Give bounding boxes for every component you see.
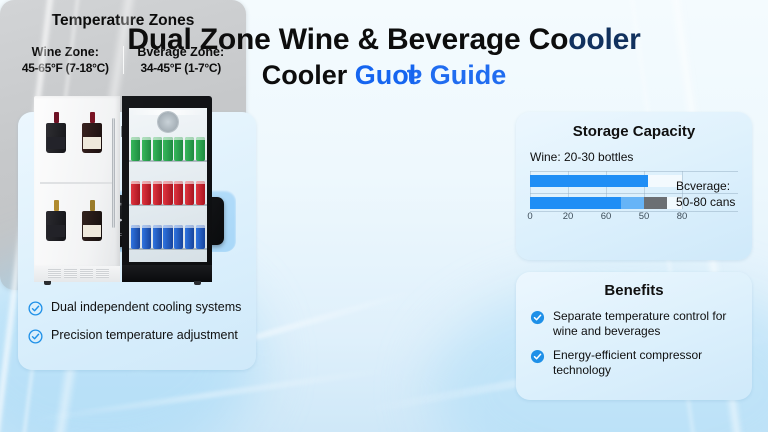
can-row xyxy=(131,135,205,161)
list-item: Energy-efficient compressor technology xyxy=(530,348,738,377)
storage-capacity-card: Storage Capacity Wine: 20-30 bottles 020… xyxy=(516,112,752,260)
check-circle-icon xyxy=(530,349,545,364)
benefits-heading: Benefits xyxy=(516,282,752,299)
wine-bottle xyxy=(46,200,66,241)
glass-door xyxy=(129,108,207,262)
title-line-2-dark: Cooler xyxy=(262,60,355,90)
title-line-2: Cooler Guolɐ Guide xyxy=(0,58,768,92)
bar-segment xyxy=(530,175,648,187)
bar-segment xyxy=(530,197,621,209)
list-item-label: Dual independent cooling systems xyxy=(51,300,241,315)
chart-tick-label: 50 xyxy=(639,211,650,222)
wine-compartment xyxy=(34,96,120,268)
infographic-canvas: Dual Zone Wine & Beverage Coooler Cooler… xyxy=(0,0,768,432)
benefits-card: Benefits Separate temperature control fo… xyxy=(516,272,752,400)
chart-tick-label: 20 xyxy=(563,211,574,222)
door-handle xyxy=(112,118,115,228)
title-line-1-tail: ooler xyxy=(568,23,640,56)
title-line-1-main: Dual Zone Wine & Beverage Co xyxy=(127,23,568,56)
check-circle-icon xyxy=(28,301,43,316)
storage-capacity-heading: Storage Capacity xyxy=(516,123,752,140)
list-item-label: Separate temperature control for wine an… xyxy=(553,309,738,338)
cooler-base xyxy=(34,264,212,282)
wine-capacity-label: Wine: 20-30 bottles xyxy=(530,150,738,165)
title-line-2-ghost: ɐ Guide xyxy=(407,60,506,90)
chart-tick-label: 80 xyxy=(677,211,688,222)
dual-zone-cooler-image xyxy=(34,96,212,282)
beverage-capacity-label: Bcverage: 50-80 cans xyxy=(676,178,754,210)
list-item-label: Precision temperature adjustment xyxy=(51,328,238,343)
benefits-bullet-list: Separate temperature control for wine an… xyxy=(530,309,738,377)
chart-tick-labels: 020605080 xyxy=(530,211,738,225)
beverage-capacity-label-line1: Bcverage: xyxy=(676,178,754,194)
features-bullet-list: Dual independent cooling systems Precisi… xyxy=(28,300,248,356)
list-item-label: Energy-efficient compressor technology xyxy=(553,348,738,377)
fan-icon xyxy=(158,112,178,132)
list-item: Separate temperature control for wine an… xyxy=(530,309,738,338)
chart-tick-label: 60 xyxy=(601,211,612,222)
beverage-capacity-label-line2: 50-80 cans xyxy=(676,194,754,210)
wine-bottle xyxy=(82,200,102,241)
capacity-chart-wrap: Wine: 20-30 bottles 020605080 Bcverage: … xyxy=(516,150,752,223)
list-item: Dual independent cooling systems xyxy=(28,300,248,316)
check-circle-icon xyxy=(28,329,43,344)
bar-track xyxy=(530,175,682,187)
title-line-1: Dual Zone Wine & Beverage Coooler xyxy=(0,22,768,58)
page-title: Dual Zone Wine & Beverage Coooler Cooler… xyxy=(0,22,768,92)
can-row xyxy=(131,179,205,205)
chart-tick-label: 0 xyxy=(527,211,532,222)
list-item: Precision temperature adjustment xyxy=(28,328,248,344)
wine-bottle xyxy=(46,112,66,153)
check-circle-icon xyxy=(530,310,545,325)
can-row xyxy=(131,223,205,249)
chart-axis-line xyxy=(530,171,738,172)
wine-bottle xyxy=(82,112,102,153)
beverage-compartment xyxy=(122,96,212,276)
bar-track xyxy=(530,197,682,209)
vent-grille xyxy=(48,269,109,278)
